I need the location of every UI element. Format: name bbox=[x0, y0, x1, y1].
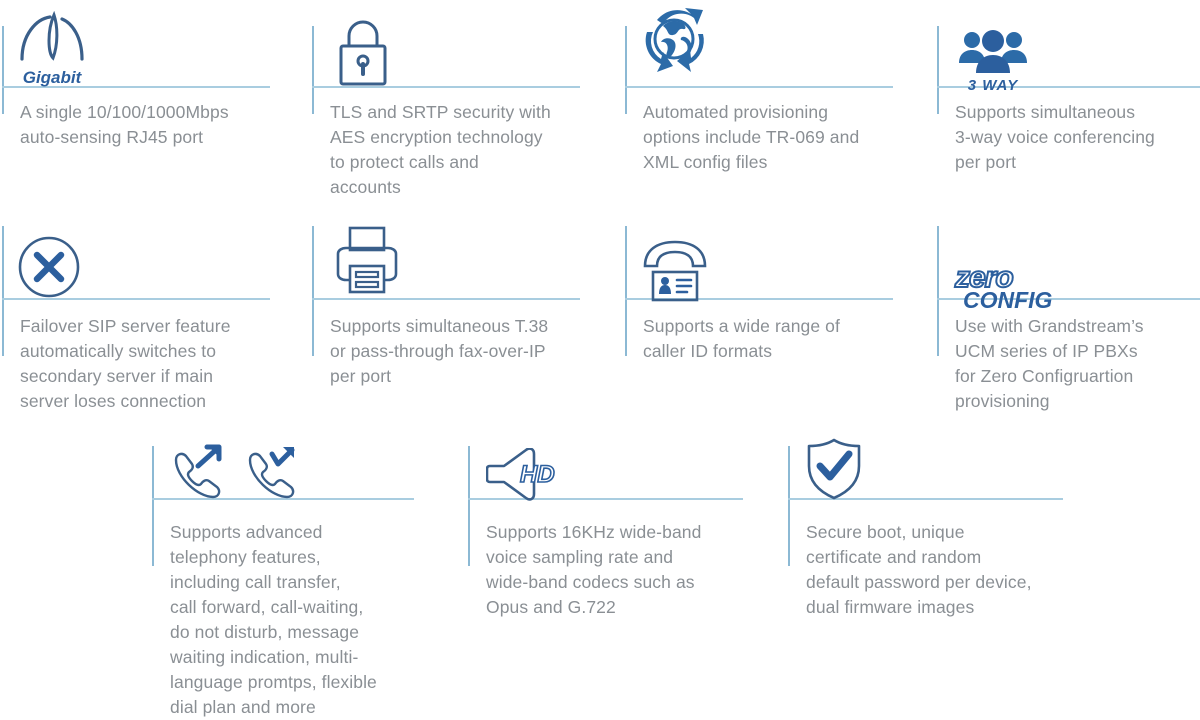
feature-description: Supports a wide range of caller ID forma… bbox=[643, 314, 895, 364]
feature-row-2: Failover SIP server feature automaticall… bbox=[0, 212, 1200, 412]
zero-config-logo: zero CONFIG bbox=[955, 224, 1052, 312]
card-divider bbox=[625, 86, 893, 88]
x-in-circle-icon-svg bbox=[16, 234, 82, 300]
gigabit-speed-icon-svg bbox=[16, 11, 88, 67]
card-left-rule bbox=[625, 226, 627, 356]
card-left-rule bbox=[312, 26, 314, 114]
padlock-icon-svg bbox=[334, 16, 392, 88]
feature-description: Supports simultaneous 3-way voice confer… bbox=[955, 100, 1200, 175]
hd-speaker-icon: HD bbox=[486, 434, 562, 502]
call-forward-icon bbox=[242, 444, 298, 500]
feature-row-3: Supports advanced telephony features, in… bbox=[0, 432, 1200, 687]
hd-speaker-icon-svg: HD bbox=[486, 448, 562, 502]
feature-row-1: Gigabit A single 10/100/1000Mbps auto-se… bbox=[0, 0, 1200, 200]
phone-caller-id-card-icon bbox=[641, 216, 709, 304]
gigabit-icon-label: Gigabit bbox=[23, 68, 82, 88]
card-divider bbox=[312, 298, 580, 300]
feature-description: Supports simultaneous T.38 or pass-throu… bbox=[330, 314, 588, 389]
globe-sync-arrows-icon-svg bbox=[633, 0, 715, 80]
feature-description: Secure boot, unique certificate and rand… bbox=[806, 520, 1068, 620]
three-people-icon: 3 WAY bbox=[957, 6, 1029, 94]
card-left-rule bbox=[2, 226, 4, 356]
card-left-rule bbox=[2, 26, 4, 114]
phone-caller-id-card-icon-svg bbox=[641, 240, 709, 304]
shield-check-icon-svg bbox=[806, 438, 862, 500]
x-in-circle-icon bbox=[16, 212, 82, 300]
fax-machine-icon bbox=[332, 208, 402, 296]
three-way-icon-label: 3 WAY bbox=[968, 77, 1019, 94]
card-left-rule bbox=[152, 446, 154, 566]
three-people-icon-svg bbox=[957, 29, 1029, 79]
fax-machine-icon-svg bbox=[332, 224, 402, 296]
card-left-rule bbox=[788, 446, 790, 566]
card-left-rule bbox=[625, 26, 627, 114]
feature-description: Use with Grandstream’s UCM series of IP … bbox=[955, 314, 1200, 414]
card-left-rule bbox=[937, 26, 939, 114]
feature-description: Supports 16KHz wide-band voice sampling … bbox=[486, 520, 746, 620]
hd-label: HD bbox=[520, 461, 555, 488]
call-transfer-forward-icons bbox=[168, 432, 298, 500]
zero-config-logo-line2: CONFIG bbox=[963, 289, 1052, 312]
gigabit-speed-icon: Gigabit bbox=[16, 0, 88, 88]
feature-grid: Gigabit A single 10/100/1000Mbps auto-se… bbox=[0, 0, 1200, 687]
globe-sync-arrows-icon bbox=[633, 0, 715, 80]
shield-check-icon bbox=[806, 432, 862, 500]
card-left-rule bbox=[937, 226, 939, 356]
feature-description: Supports advanced telephony features, in… bbox=[170, 520, 414, 720]
card-left-rule bbox=[312, 226, 314, 356]
feature-description: Failover SIP server feature automaticall… bbox=[20, 314, 276, 414]
feature-description: Automated provisioning options include T… bbox=[643, 100, 901, 175]
feature-description: A single 10/100/1000Mbps auto-sensing RJ… bbox=[20, 100, 270, 150]
padlock-icon bbox=[334, 0, 392, 88]
card-left-rule bbox=[468, 446, 470, 566]
feature-description: TLS and SRTP security with AES encryptio… bbox=[330, 100, 582, 200]
call-transfer-icon bbox=[168, 444, 224, 500]
